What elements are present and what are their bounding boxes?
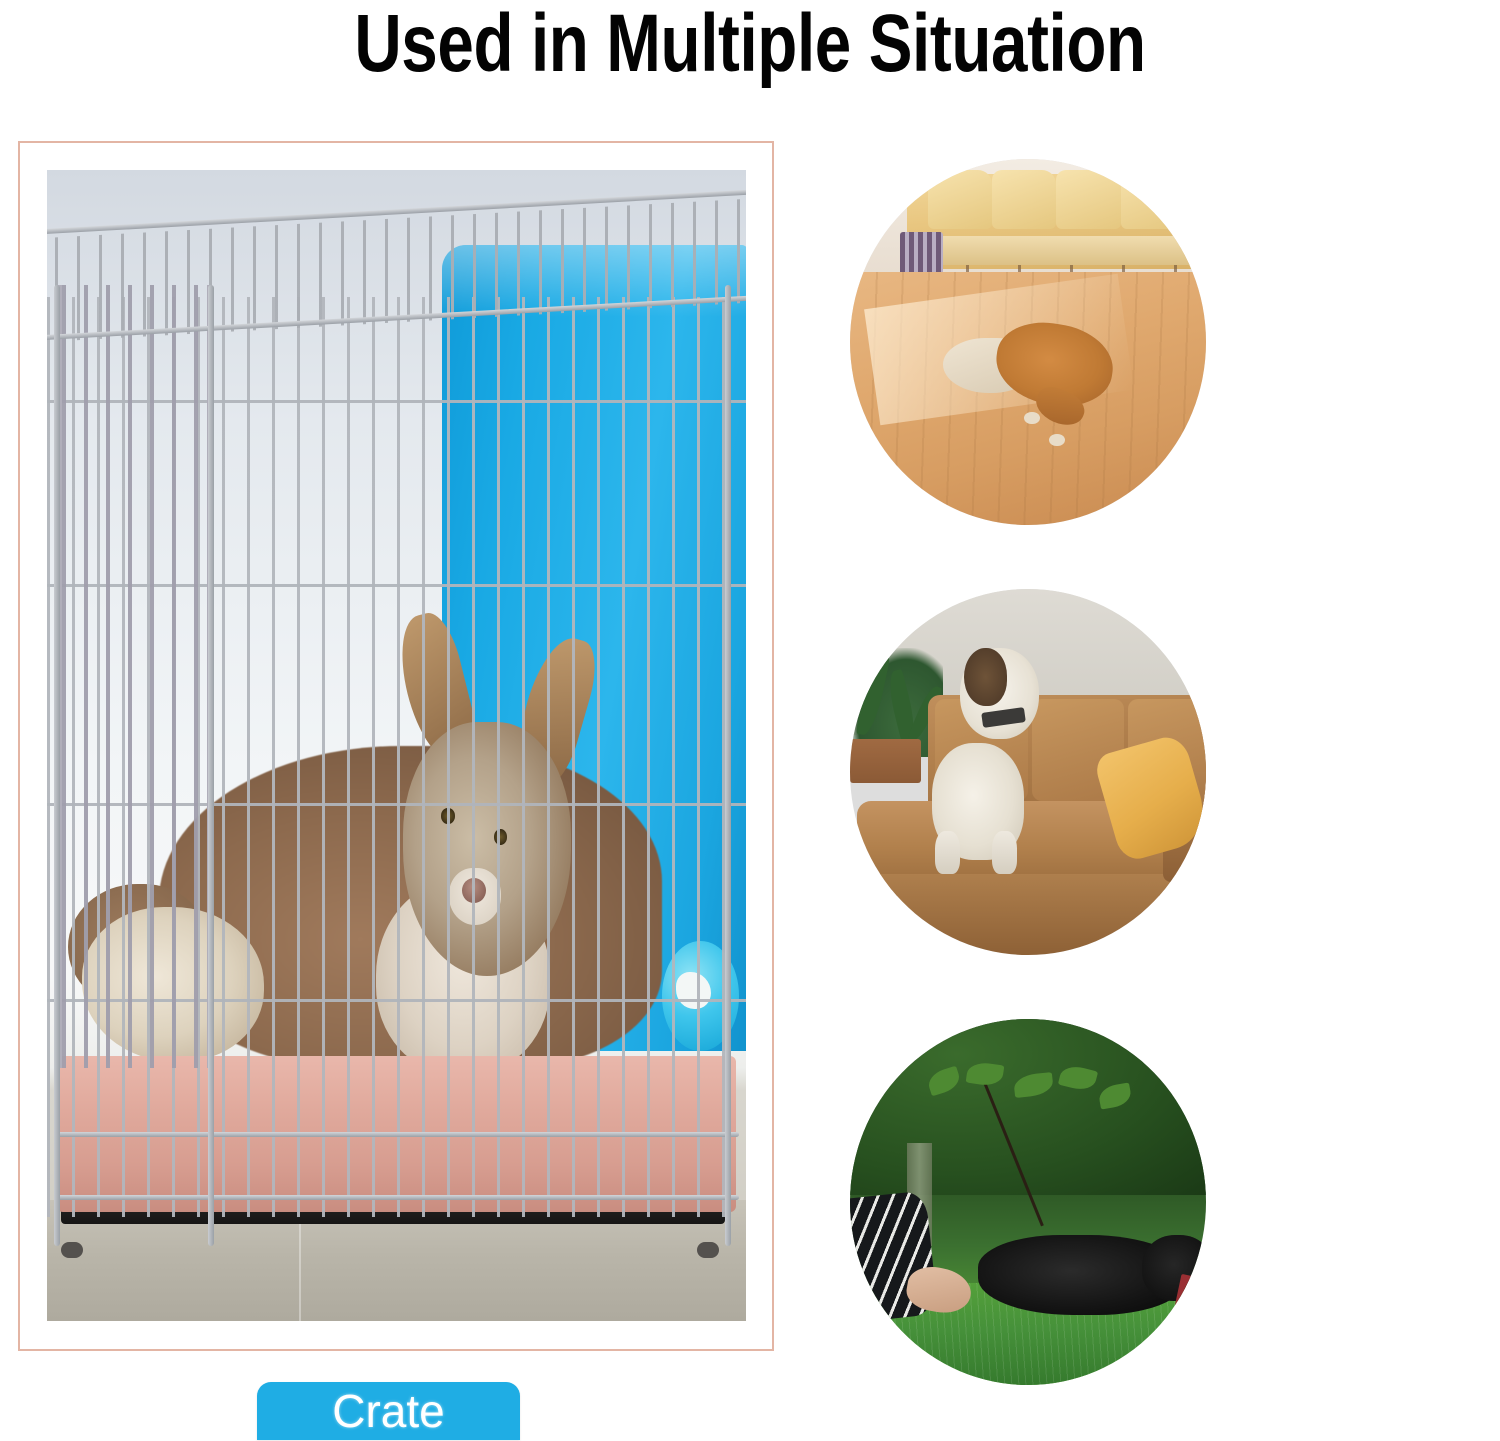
situation-photo-floor (850, 159, 1206, 525)
crate-photo (47, 170, 746, 1321)
dog-front-leg (992, 831, 1017, 875)
crate-foot (61, 1242, 83, 1258)
crate-corner-post (54, 285, 60, 1246)
crate-lower-rail (54, 1195, 739, 1200)
sofa-cushion (1056, 170, 1120, 229)
dog-front-leg (935, 831, 960, 875)
crate-lower-rail (54, 1132, 739, 1137)
situation-photo-sofa (850, 589, 1206, 955)
plant-pot (850, 739, 921, 783)
sofa-cushion (928, 170, 992, 229)
sofa-seat (907, 236, 1206, 265)
dog-curly-fur (964, 648, 1007, 707)
crate-door-panel (57, 285, 211, 1068)
situation-row-sofa: Sofa (850, 589, 1500, 955)
dog-eye-left (441, 808, 454, 824)
sofa-scene (850, 589, 1206, 955)
situation-row-outdoor: Outdoor (850, 1019, 1500, 1385)
infographic-page: Used in Multiple Situation (0, 0, 1500, 1441)
crate-corner-post (208, 285, 214, 1246)
dog-head (403, 722, 571, 975)
crate-foot (697, 1242, 719, 1258)
dog-eye-right (494, 829, 507, 845)
dog-nose (462, 878, 486, 903)
situation-photo-outdoor (850, 1019, 1206, 1385)
crate-scene (47, 170, 746, 1321)
sofa-cushion (992, 170, 1056, 229)
sofa-cushion (1121, 170, 1185, 229)
label-badge-crate: Crate (257, 1382, 520, 1440)
outdoor-scene (850, 1019, 1206, 1385)
page-title: Used in Multiple Situation (150, 0, 1350, 92)
sofa-base (850, 874, 1206, 955)
black-dog-head (1142, 1235, 1206, 1301)
crate-photo-frame (18, 141, 774, 1351)
tree-canopy (850, 1019, 1206, 1195)
situation-row-floor: Floor (850, 159, 1500, 525)
crate-corner-post (725, 285, 731, 1246)
floor-scene (850, 159, 1206, 525)
